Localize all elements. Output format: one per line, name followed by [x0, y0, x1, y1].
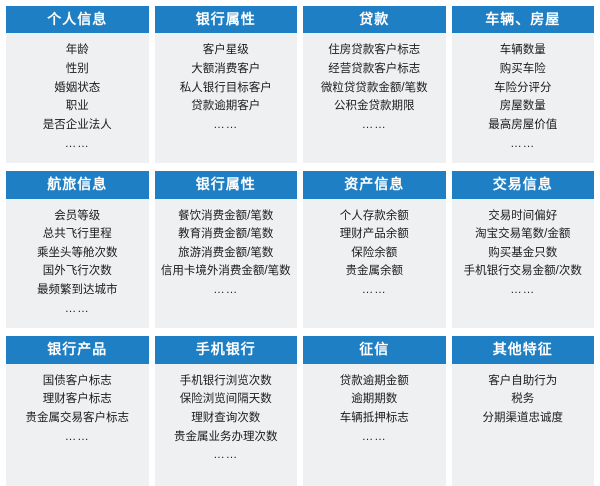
ellipsis: …… — [8, 300, 147, 319]
ellipsis: …… — [305, 428, 444, 447]
list-item: 保险浏览间隔天数 — [157, 390, 296, 409]
ellipsis: …… — [157, 116, 296, 135]
list-item: 车辆数量 — [454, 41, 593, 60]
list-item: 贷款逾期金额 — [305, 372, 444, 391]
list-item: 税务 — [454, 390, 593, 409]
card-body: 车辆数量 购买车险 车险分评分 房屋数量 最高房屋价值 …… — [452, 33, 595, 163]
card-other-features: 其他特征 客户自助行为 税务 分期渠道忠诚度 — [452, 336, 595, 485]
card-title: 个人信息 — [6, 6, 149, 33]
card-transaction-info: 交易信息 交易时间偏好 淘宝交易笔数/金额 购买基金只数 手机银行交易金额/次数… — [452, 171, 595, 328]
list-item: 理财客户标志 — [8, 390, 147, 409]
list-item: 性别 — [8, 60, 147, 79]
list-item: 年龄 — [8, 41, 147, 60]
list-item: 车险分评分 — [454, 79, 593, 98]
card-body: 手机银行浏览次数 保险浏览间隔天数 理财查询次数 贵金属业务办理次数 …… — [155, 364, 298, 486]
list-item: 淘宝交易笔数/金额 — [454, 225, 593, 244]
card-vehicle-house: 车辆、房屋 车辆数量 购买车险 车险分评分 房屋数量 最高房屋价值 …… — [452, 6, 595, 163]
list-item: 经营贷款客户标志 — [305, 60, 444, 79]
card-title: 交易信息 — [452, 171, 595, 198]
ellipsis: …… — [305, 281, 444, 300]
ellipsis: …… — [157, 446, 296, 465]
card-title: 征信 — [303, 336, 446, 363]
card-bank-attributes-2: 银行属性 餐饮消费金额/笔数 教育消费金额/笔数 旅游消费金额/笔数 信用卡境外… — [155, 171, 298, 328]
list-item: 车辆抵押标志 — [305, 409, 444, 428]
card-asset-info: 资产信息 个人存款余额 理财产品余额 保险余额 贵金属余额 …… — [303, 171, 446, 328]
list-item: 国外飞行次数 — [8, 262, 147, 281]
ellipsis: …… — [157, 281, 296, 300]
list-item: 旅游消费金额/笔数 — [157, 244, 296, 263]
ellipsis: …… — [454, 135, 593, 154]
list-item: 最频繁到达城市 — [8, 281, 147, 300]
list-item: 个人存款余额 — [305, 207, 444, 226]
card-body: 住房贷款客户标志 经营贷款客户标志 微粒贷贷款金额/笔数 公积金贷款期限 …… — [303, 33, 446, 155]
list-item: 信用卡境外消费金额/笔数 — [157, 262, 296, 281]
card-grid: 个人信息 年龄 性别 婚姻状态 职业 是否企业法人 …… 银行属性 客户星级 大… — [6, 6, 594, 486]
card-title: 手机银行 — [155, 336, 298, 363]
card-credit-report: 征信 贷款逾期金额 逾期期数 车辆抵押标志 …… — [303, 336, 446, 485]
card-body: 客户星级 大额消费客户 私人银行目标客户 贷款逾期客户 …… — [155, 33, 298, 155]
list-item: 大额消费客户 — [157, 60, 296, 79]
list-item: 逾期期数 — [305, 390, 444, 409]
list-item: 理财产品余额 — [305, 225, 444, 244]
card-body: 个人存款余额 理财产品余额 保险余额 贵金属余额 …… — [303, 199, 446, 321]
list-item: 住房贷款客户标志 — [305, 41, 444, 60]
list-item: 交易时间偏好 — [454, 207, 593, 226]
list-item: 总共飞行里程 — [8, 225, 147, 244]
ellipsis: …… — [454, 281, 593, 300]
list-item: 贵金属余额 — [305, 262, 444, 281]
list-item: 餐饮消费金额/笔数 — [157, 207, 296, 226]
card-title: 航旅信息 — [6, 171, 149, 198]
card-personal-info: 个人信息 年龄 性别 婚姻状态 职业 是否企业法人 …… — [6, 6, 149, 163]
card-title: 其他特征 — [452, 336, 595, 363]
list-item: 私人银行目标客户 — [157, 79, 296, 98]
list-item: 是否企业法人 — [8, 116, 147, 135]
list-item: 贵金属交易客户标志 — [8, 409, 147, 428]
list-item: 贵金属业务办理次数 — [157, 428, 296, 447]
card-body: 年龄 性别 婚姻状态 职业 是否企业法人 …… — [6, 33, 149, 163]
list-item: 贷款逾期客户 — [157, 97, 296, 116]
list-item: 保险余额 — [305, 244, 444, 263]
list-item: 微粒贷贷款金额/笔数 — [305, 79, 444, 98]
feature-taxonomy-board: 个人信息 年龄 性别 婚姻状态 职业 是否企业法人 …… 银行属性 客户星级 大… — [0, 0, 600, 460]
card-mobile-bank: 手机银行 手机银行浏览次数 保险浏览间隔天数 理财查询次数 贵金属业务办理次数 … — [155, 336, 298, 485]
card-title: 车辆、房屋 — [452, 6, 595, 33]
ellipsis: …… — [8, 135, 147, 154]
ellipsis: …… — [8, 428, 147, 447]
list-item: 理财查询次数 — [157, 409, 296, 428]
list-item: 分期渠道忠诚度 — [454, 409, 593, 428]
list-item: 购买基金只数 — [454, 244, 593, 263]
list-item: 公积金贷款期限 — [305, 97, 444, 116]
card-body: 客户自助行为 税务 分期渠道忠诚度 — [452, 364, 595, 486]
list-item: 乘坐头等舱次数 — [8, 244, 147, 263]
list-item: 手机银行交易金额/次数 — [454, 262, 593, 281]
list-item: 房屋数量 — [454, 97, 593, 116]
card-body: 国债客户标志 理财客户标志 贵金属交易客户标志 …… — [6, 364, 149, 486]
card-title: 银行属性 — [155, 6, 298, 33]
card-loans: 贷款 住房贷款客户标志 经营贷款客户标志 微粒贷贷款金额/笔数 公积金贷款期限 … — [303, 6, 446, 163]
card-title: 银行属性 — [155, 171, 298, 198]
card-bank-products: 银行产品 国债客户标志 理财客户标志 贵金属交易客户标志 …… — [6, 336, 149, 485]
card-bank-attributes-1: 银行属性 客户星级 大额消费客户 私人银行目标客户 贷款逾期客户 …… — [155, 6, 298, 163]
list-item: 国债客户标志 — [8, 372, 147, 391]
card-body: 交易时间偏好 淘宝交易笔数/金额 购买基金只数 手机银行交易金额/次数 …… — [452, 199, 595, 321]
list-item: 会员等级 — [8, 207, 147, 226]
ellipsis: …… — [305, 116, 444, 135]
card-body: 餐饮消费金额/笔数 教育消费金额/笔数 旅游消费金额/笔数 信用卡境外消费金额/… — [155, 199, 298, 321]
card-title: 资产信息 — [303, 171, 446, 198]
list-item: 最高房屋价值 — [454, 116, 593, 135]
list-item: 手机银行浏览次数 — [157, 372, 296, 391]
list-item: 客户自助行为 — [454, 372, 593, 391]
card-body: 会员等级 总共飞行里程 乘坐头等舱次数 国外飞行次数 最频繁到达城市 …… — [6, 199, 149, 329]
card-title: 银行产品 — [6, 336, 149, 363]
list-item: 教育消费金额/笔数 — [157, 225, 296, 244]
card-travel-info: 航旅信息 会员等级 总共飞行里程 乘坐头等舱次数 国外飞行次数 最频繁到达城市 … — [6, 171, 149, 328]
list-item: 职业 — [8, 97, 147, 116]
list-item: 婚姻状态 — [8, 79, 147, 98]
card-title: 贷款 — [303, 6, 446, 33]
list-item: 客户星级 — [157, 41, 296, 60]
card-body: 贷款逾期金额 逾期期数 车辆抵押标志 …… — [303, 364, 446, 486]
list-item: 购买车险 — [454, 60, 593, 79]
